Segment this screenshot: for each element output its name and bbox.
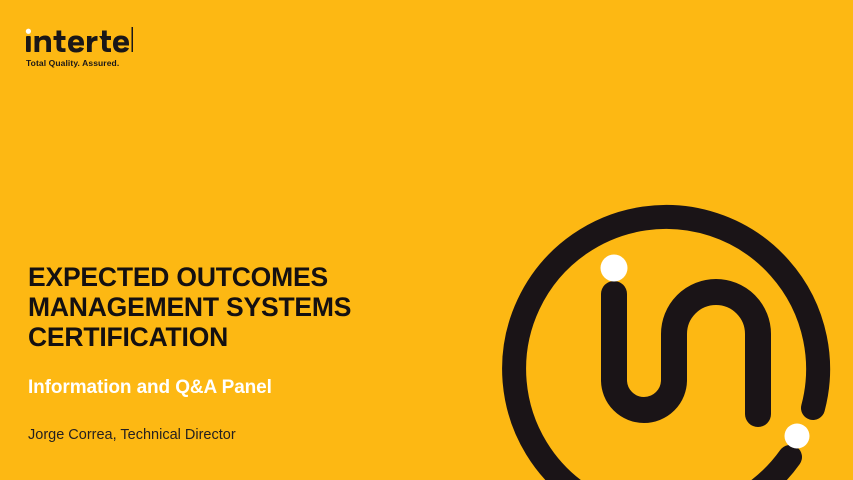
title-line-1: EXPECTED OUTCOMES [28,262,328,292]
title-line-2: MANAGEMENT SYSTEMS [28,292,351,322]
page-subtitle: Information and Q&A Panel [28,376,458,399]
intertek-in-monogram-icon [494,168,853,480]
headline-block: EXPECTED OUTCOMESMANAGEMENT SYSTEMSCERTI… [28,262,458,444]
brand-tagline: Total Quality. Assured. [26,58,119,69]
page-title: EXPECTED OUTCOMESMANAGEMENT SYSTEMSCERTI… [28,262,458,352]
intertek-wordmark-logo [25,26,133,56]
presentation-slide: Total Quality. Assured. EXPECTED OUTCOME… [0,0,853,480]
title-line-3: CERTIFICATION [28,322,228,352]
brand-logo: Total Quality. Assured. [25,26,255,76]
monogram-dot-upper [601,255,628,282]
monogram-dot-lower [785,424,810,449]
presenter-byline: Jorge Correa, Technical Director [28,426,458,444]
